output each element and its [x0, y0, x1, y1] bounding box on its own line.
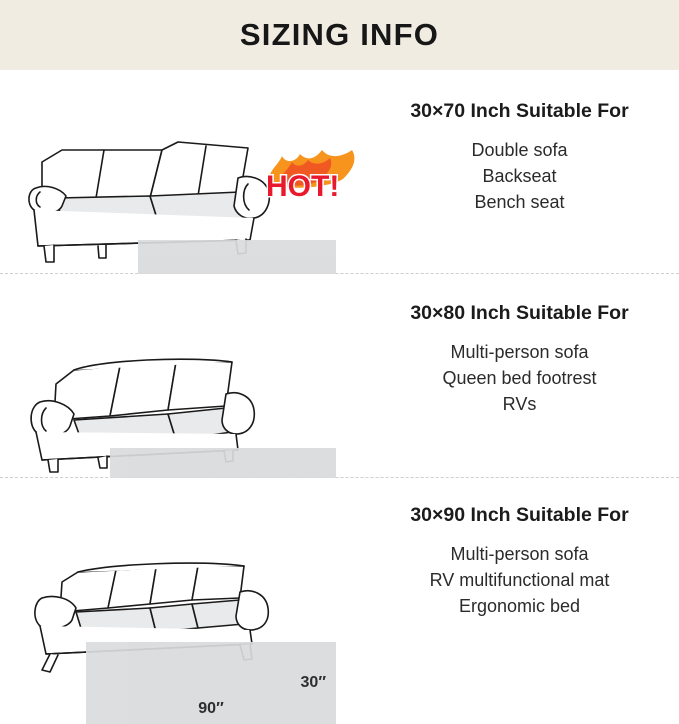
page-header: SIZING INFO	[0, 0, 679, 70]
measure-height-label-90: 30″	[301, 674, 326, 692]
sofa-illustration-80: 80″ 30″	[0, 274, 360, 477]
size-info-30x80: 30×80 Inch Suitable For Multi-person sof…	[360, 274, 679, 477]
hot-badge-text: HOT!	[266, 170, 339, 203]
size-line-1-30x90: Multi-person sofa	[450, 541, 588, 567]
sofa-illustration-90: 90″ 30″	[0, 478, 360, 681]
size-row-30x90: 90″ 30″ 30×90 Inch Suitable For Multi-pe…	[0, 478, 679, 681]
size-line-3-30x80: RVs	[503, 391, 537, 417]
size-line-2-30x80: Queen bed footrest	[442, 365, 596, 391]
size-line-3-30x70: Bench seat	[474, 189, 564, 215]
size-row-30x70: 70″ 30″ HOT! 30×70 Inch Suitable For Dou…	[0, 70, 679, 274]
size-info-30x70: 30×70 Inch Suitable For Double sofa Back…	[360, 70, 679, 273]
page-title: SIZING INFO	[240, 17, 439, 53]
size-line-3-30x90: Ergonomic bed	[459, 593, 580, 619]
sofa-3seat-icon	[0, 274, 360, 476]
size-line-1-30x80: Multi-person sofa	[450, 339, 588, 365]
sofa-illustration-70: 70″ 30″ HOT!	[0, 70, 360, 273]
measure-rect-90: 90″ 30″	[86, 642, 336, 724]
size-row-30x80: 80″ 30″ 30×80 Inch Suitable For Multi-pe…	[0, 274, 679, 478]
size-title-30x90: 30×90 Inch Suitable For	[410, 504, 628, 527]
size-title-30x80: 30×80 Inch Suitable For	[410, 302, 628, 325]
sizing-info-page: SIZING INFO	[0, 0, 679, 679]
size-info-30x90: 30×90 Inch Suitable For Multi-person sof…	[360, 478, 679, 681]
measure-width-label-90: 90″	[86, 700, 336, 718]
hot-badge: HOT!	[252, 148, 372, 208]
size-line-1-30x70: Double sofa	[471, 137, 567, 163]
size-title-30x70: 30×70 Inch Suitable For	[410, 100, 628, 123]
size-line-2-30x90: RV multifunctional mat	[430, 567, 610, 593]
size-line-2-30x70: Backseat	[482, 163, 556, 189]
